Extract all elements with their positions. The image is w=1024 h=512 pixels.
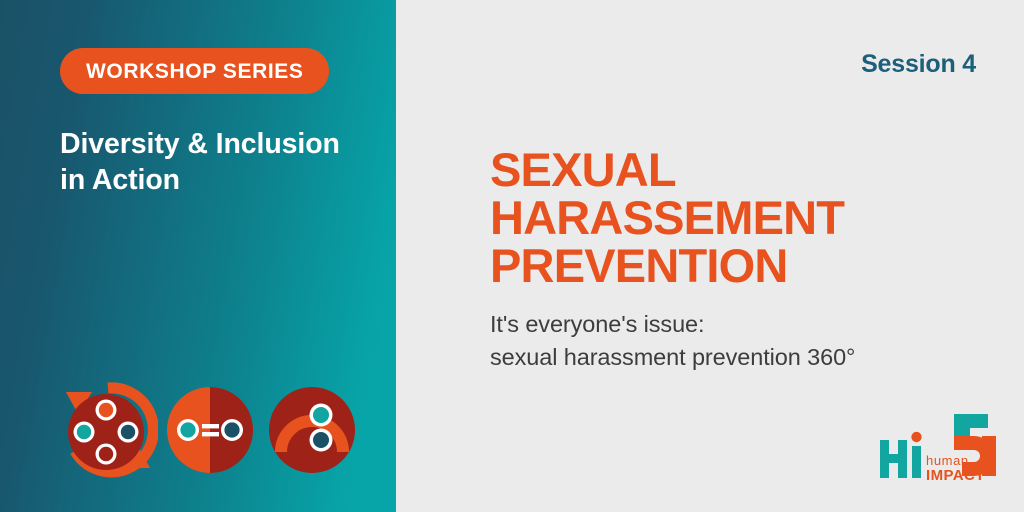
page-subtitle-line-2: sexual harassment prevention 360° [490,341,1000,374]
workshop-series-badge: WORKSHOP SERIES [60,48,329,94]
left-gradient-panel: WORKSHOP SERIES Diversity & Inclusion in… [0,0,396,512]
equality-icon [160,380,260,480]
human-impact-logo: human IMPACT [878,412,998,486]
series-title-line-1: Diversity & Inclusion [60,128,340,160]
page-title: SEXUAL HARASSEMENT PREVENTION [490,146,990,290]
logo-word-human: human [926,453,969,468]
logo-hi-mark [880,432,922,478]
slide-canvas: WORKSHOP SERIES Diversity & Inclusion in… [0,0,1024,512]
inclusion-arch-icon [262,380,362,480]
arch-disc [269,387,355,473]
logo-hi-dot [911,432,921,442]
logo-word-impact: IMPACT [926,467,985,484]
session-label: Session 4 [861,52,976,77]
theme-icon-row [58,380,368,484]
equals-bar-top [202,424,219,428]
workshop-series-badge-label: WORKSHOP SERIES [86,61,303,82]
equals-bar-bottom [202,432,219,436]
page-title-line-3: PREVENTION [490,242,990,290]
page-subtitle: It's everyone's issue: sexual harassment… [490,308,1000,375]
series-title-line-2: in Action [60,164,180,196]
page-title-line-2: HARASSEMENT [490,194,990,242]
diversity-cycle-icon [58,380,158,480]
series-title: Diversity & Inclusion in Action [60,126,380,199]
page-title-line-1: SEXUAL [490,146,990,194]
page-subtitle-line-1: It's everyone's issue: [490,308,1000,341]
